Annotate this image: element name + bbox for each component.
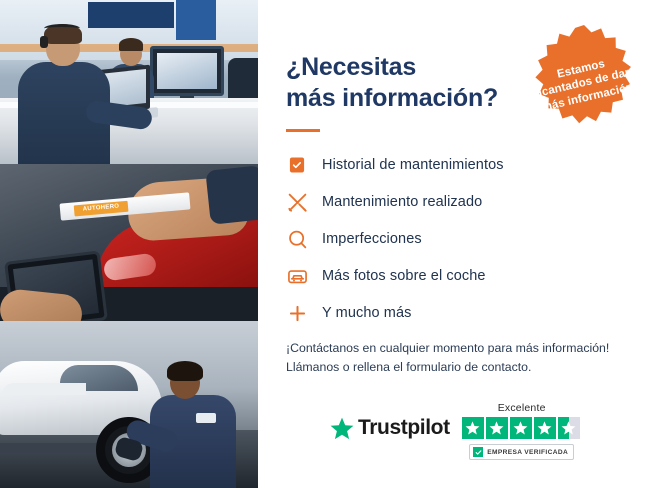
list-item-label: Mantenimiento realizado (322, 194, 482, 210)
badge-text: Estamos encantados de darte más informac… (523, 50, 645, 117)
star-icon-half (558, 417, 580, 439)
contact-paragraph: ¡Contáctanos en cualquier momento para m… (286, 339, 624, 377)
headline-line-1: ¿Necesitas (286, 53, 416, 81)
star-icon (510, 417, 532, 439)
list-item: Imperfecciones (286, 228, 624, 250)
trustpilot-stars (462, 417, 582, 439)
photo-inspector-ruler-red-car: AUTOHERO (0, 164, 258, 321)
list-item: Mantenimiento realizado (286, 191, 624, 213)
trustpilot-wordmark: Trustpilot (358, 416, 450, 440)
list-item-label: Imperfecciones (322, 231, 422, 247)
plus-icon (286, 302, 308, 324)
trustpilot-logo: Trustpilot (330, 416, 450, 440)
star-icon (486, 417, 508, 439)
title-divider (286, 129, 320, 132)
contact-line-1: ¡Contáctanos en cualquier momento para m… (286, 341, 609, 355)
tools-icon (286, 191, 308, 213)
trustpilot-rating-label: Excelente (498, 402, 546, 414)
magnifier-icon (286, 228, 308, 250)
ruler-brand-label: AUTOHERO (74, 201, 129, 217)
headline-line-2: más información? (286, 84, 498, 112)
list-item-label: Más fotos sobre el coche (322, 268, 486, 284)
star-icon (534, 417, 556, 439)
checklist-icon (286, 154, 308, 176)
info-card: AUTOHERO ¿Necesitas más información? (0, 0, 650, 488)
check-icon (473, 447, 483, 457)
page-title: ¿Necesitas más información? (286, 52, 516, 113)
trustpilot-star-icon (330, 417, 354, 440)
list-item-label: Y mucho más (322, 305, 411, 321)
list-item: Más fotos sobre el coche (286, 265, 624, 287)
list-item-label: Historial de mantenimientos (322, 157, 504, 173)
list-item: Historial de mantenimientos (286, 154, 624, 176)
verified-label: EMPRESA VERIFICADA (487, 449, 568, 456)
list-item: Y mucho más (286, 302, 624, 324)
feature-list: Historial de mantenimientos Mantenimient… (286, 154, 624, 324)
photo-call-center-advisor (0, 0, 258, 164)
status-badge: Estamos encantados de darte más informac… (526, 24, 642, 140)
contact-line-2: Llámanos o rellena el formulario de cont… (286, 360, 531, 374)
photo-mechanic-car-on-lift (0, 321, 258, 488)
trustpilot-block: Trustpilot Excelente (330, 402, 630, 460)
photo-strip: AUTOHERO (0, 0, 258, 488)
verified-badge: EMPRESA VERIFICADA (469, 444, 574, 460)
camera-car-icon (286, 265, 308, 287)
star-icon (462, 417, 484, 439)
